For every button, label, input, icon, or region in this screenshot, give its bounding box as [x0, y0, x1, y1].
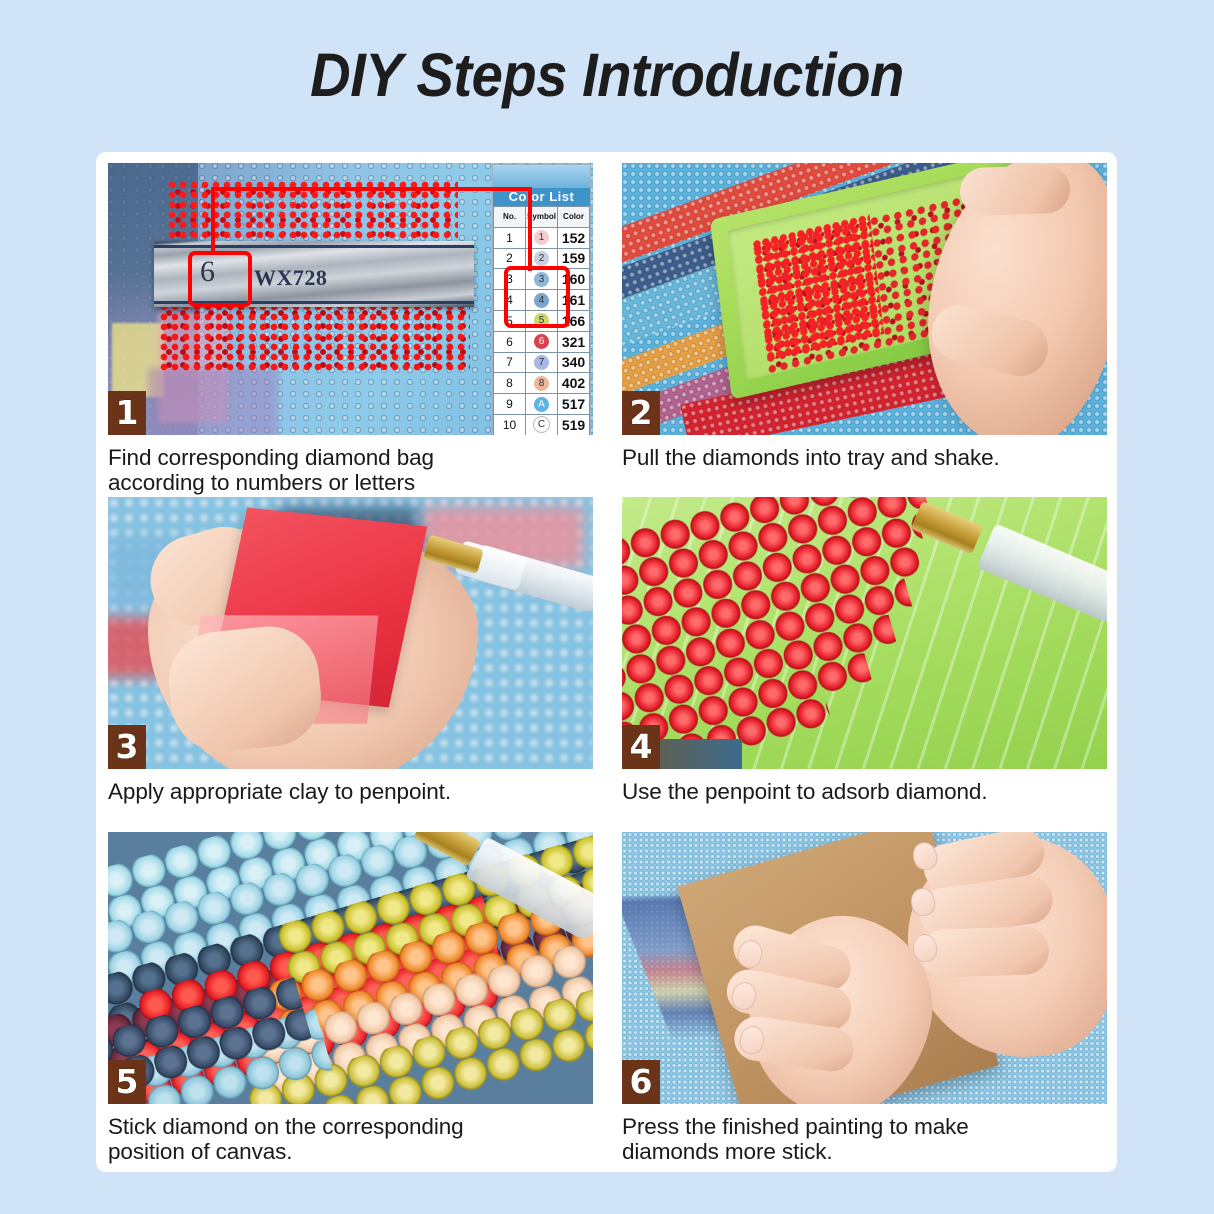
step-1-photo: 6 WX728 Color List No. Symbol [108, 163, 593, 435]
pen-gold-tip [413, 832, 481, 866]
step-caption-4: Use the penpoint to adsorb diamond. [622, 769, 1107, 804]
cell-no: 10 [494, 414, 526, 435]
color-list-header-row: No. Symbol Color [494, 207, 590, 228]
symbol-dot: 7 [534, 355, 549, 370]
table-row: 7 7 340 [494, 352, 590, 373]
step-caption-6: Press the finished painting to make diam… [622, 1104, 1107, 1164]
cell-color: 340 [558, 352, 590, 373]
pen-gold-tip [423, 535, 484, 574]
caption-line-1: Use the penpoint to adsorb diamond. [622, 779, 1107, 804]
step-card-1: 6 WX728 Color List No. Symbol [108, 163, 593, 493]
table-row: 6 6 321 [494, 331, 590, 352]
step-number-badge: 6 [622, 1060, 660, 1104]
bag-code-label: WX728 [254, 265, 327, 291]
caption-line-2: position of canvas. [108, 1139, 593, 1164]
step-number-badge: 4 [622, 725, 660, 769]
caption-line-1: Apply appropriate clay to penpoint. [108, 779, 593, 804]
page-title: DIY Steps Introduction [49, 40, 1166, 110]
bag-seam-top [154, 245, 474, 248]
thumb [926, 299, 1054, 382]
step-card-2: 2 Pull the diamonds into tray and shake. [622, 163, 1107, 493]
loose-diamonds-bottom [160, 303, 470, 373]
cell-symbol: A [526, 394, 558, 415]
step-number-badge: 1 [108, 391, 146, 435]
highlight-connector-vertical-2 [528, 187, 532, 271]
finger-index [959, 165, 1071, 217]
finger-ring-right [920, 925, 1050, 977]
caption-line-1: Find corresponding diamond bag [108, 445, 593, 470]
symbol-dot: 1 [534, 230, 549, 245]
pen-gold-tip [911, 501, 983, 554]
step-2-photo: 2 [622, 163, 1107, 435]
cell-color: 517 [558, 394, 590, 415]
cell-no: 9 [494, 394, 526, 415]
cell-color: 152 [558, 227, 590, 248]
step-card-5: 5 Stick diamond on the corresponding pos… [108, 832, 593, 1162]
highlight-connector-vertical [211, 187, 215, 253]
header-color: Color [558, 207, 590, 228]
table-row: 1 1 152 [494, 227, 590, 248]
cell-no: 7 [494, 352, 526, 373]
step-card-6: e Book 6 Press the finished painti [622, 832, 1107, 1162]
step-caption-5: Stick diamond on the corresponding posit… [108, 1104, 593, 1164]
cell-color: 402 [558, 373, 590, 394]
step-card-4: 4 Use the penpoint to adsorb diamond. [622, 497, 1107, 827]
cell-symbol: 8 [526, 373, 558, 394]
color-list-top-art [493, 165, 590, 188]
caption-line-1: Stick diamond on the corresponding [108, 1114, 593, 1139]
step-caption-3: Apply appropriate clay to penpoint. [108, 769, 593, 804]
symbol-dot: 2 [534, 251, 549, 266]
cell-color: 519 [558, 414, 590, 435]
cell-symbol: 7 [526, 352, 558, 373]
symbol-dot: 6 [534, 334, 549, 349]
table-row: 8 8 402 [494, 373, 590, 394]
canvas-purple-region [148, 368, 278, 435]
cell-symbol: C [526, 414, 558, 435]
symbol-dot: C [533, 416, 550, 433]
symbol-dot: 8 [534, 376, 549, 391]
step-card-3: 3 Apply appropriate clay to penpoint. [108, 497, 593, 827]
cell-no: 1 [494, 227, 526, 248]
cell-color: 321 [558, 331, 590, 352]
caption-line-1: Pull the diamonds into tray and shake. [622, 445, 1107, 470]
symbol-dot: A [534, 397, 549, 412]
highlight-connector-horizontal [211, 187, 532, 191]
step-number-badge: 2 [622, 391, 660, 435]
color-list-body: 1 1 152 2 2 159 3 3 [494, 227, 590, 435]
cell-symbol: 6 [526, 331, 558, 352]
caption-line-2: diamonds more stick. [622, 1139, 1107, 1164]
highlight-box-bag-number [188, 251, 252, 307]
table-row: 10 C 519 [494, 414, 590, 435]
caption-line-2: according to numbers or letters [108, 470, 593, 495]
step-number-badge: 3 [108, 725, 146, 769]
step-caption-2: Pull the diamonds into tray and shake. [622, 435, 1107, 470]
step-6-photo: e Book 6 [622, 832, 1107, 1104]
caption-line-1: Press the finished painting to make [622, 1114, 1107, 1139]
cell-no: 8 [494, 373, 526, 394]
step-5-photo: 5 [108, 832, 593, 1104]
table-row: 9 A 517 [494, 394, 590, 415]
step-number-badge: 5 [108, 1060, 146, 1104]
steps-panel: 6 WX728 Color List No. Symbol [96, 152, 1117, 1172]
step-4-photo: 4 [622, 497, 1107, 769]
poster-root: DIY Steps Introduction 6 WX728 [0, 0, 1214, 1214]
step-3-photo: 3 [108, 497, 593, 769]
highlight-box-color-rows [504, 266, 570, 328]
step-caption-1: Find corresponding diamond bag according… [108, 435, 593, 495]
header-no: No. [494, 207, 526, 228]
cell-no: 6 [494, 331, 526, 352]
